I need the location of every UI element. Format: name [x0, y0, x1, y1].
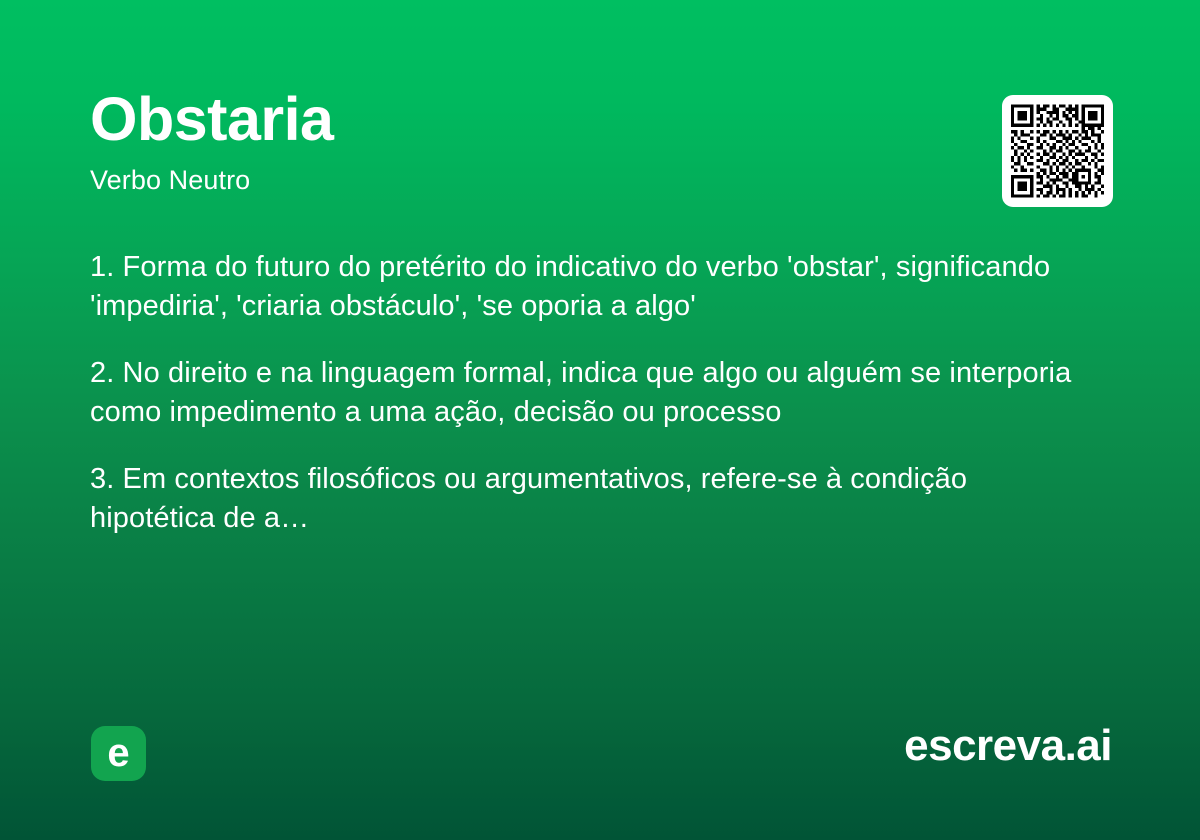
part-of-speech-label: Verbo Neutro — [90, 164, 970, 196]
qr-code-icon — [1011, 104, 1104, 198]
page-title: Obstaria — [90, 88, 970, 151]
definition-list: 1. Forma do futuro do pretérito do indic… — [90, 248, 1090, 538]
logo-letter: e — [107, 733, 129, 773]
definition-item: 1. Forma do futuro do pretérito do indic… — [90, 248, 1090, 326]
card-header: Obstaria Verbo Neutro — [90, 88, 970, 197]
definition-item: 3. Em contextos filosóficos ou argumenta… — [90, 460, 1090, 538]
definition-item: 2. No direito e na linguagem formal, ind… — [90, 354, 1090, 432]
brand-wordmark: escreva.ai — [904, 722, 1112, 770]
escreva-logo-icon: e — [91, 726, 146, 781]
word-definition-card: Obstaria Verbo Neutro — [0, 0, 1200, 840]
qr-code-card[interactable] — [1002, 95, 1113, 207]
